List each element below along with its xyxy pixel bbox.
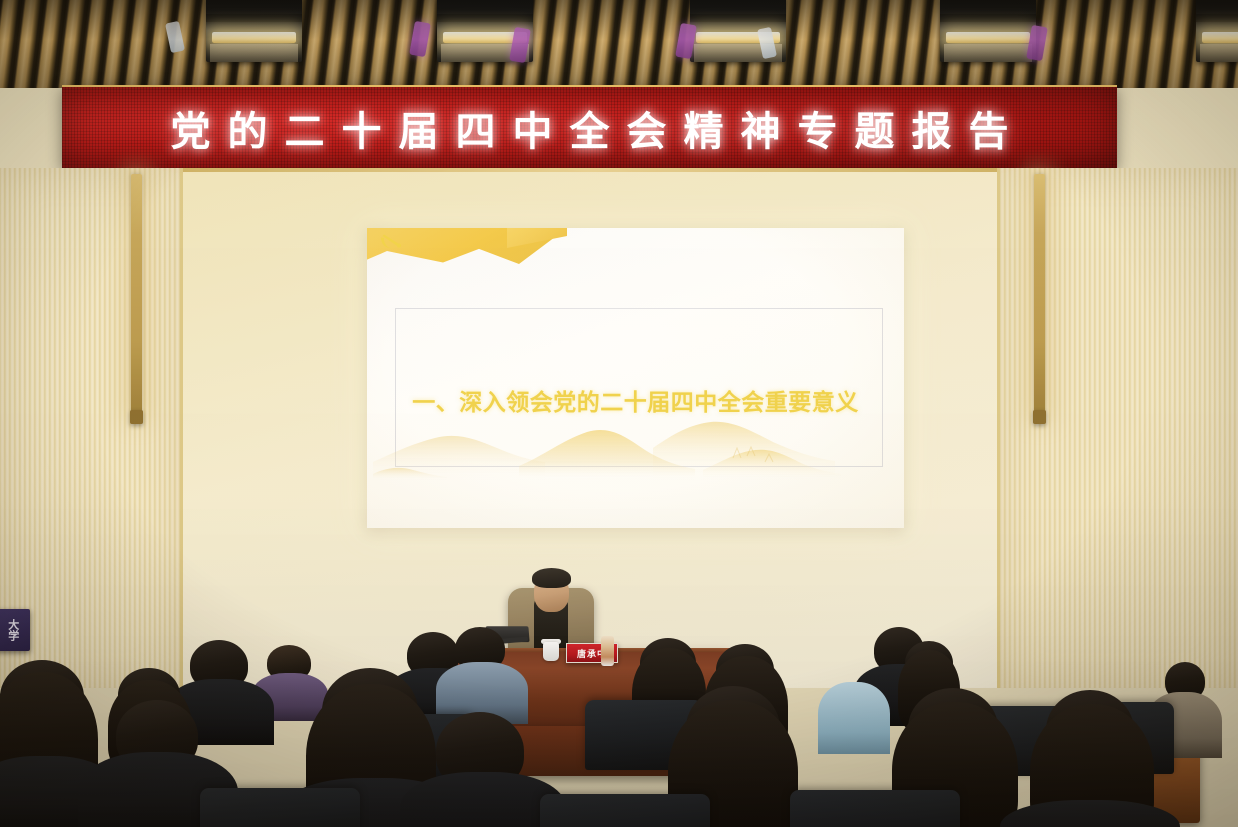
light-hood <box>944 44 1032 62</box>
thermos-bottle <box>601 636 614 666</box>
light-tube <box>1202 32 1238 43</box>
wall-sconce-right <box>1034 174 1045 414</box>
teacup <box>543 642 559 661</box>
violet-light-filter <box>509 27 531 63</box>
banner-title: 党的二十届四中全会精神专题报告 <box>154 99 1026 157</box>
wall-plaque-text: 大学 <box>7 619 19 641</box>
wall-sconce-left <box>131 174 142 414</box>
violet-light-filter <box>409 21 431 57</box>
light-mount-bar <box>206 14 302 22</box>
white-light-filter <box>757 27 777 59</box>
stage-area: 唐承中 <box>0 630 1238 827</box>
ceiling-spotlight <box>206 0 302 62</box>
wall-sconce-left-base <box>130 410 143 424</box>
conference-hall-photo: 党的二十届四中全会精神专题报告 一、深入领会党的二十届四中全会重要意义 <box>0 0 1238 827</box>
golden-mountain-landscape <box>373 418 873 480</box>
wall-sconce-right-base <box>1033 410 1046 424</box>
ceiling-spotlight <box>437 0 533 62</box>
front-desk-row <box>455 726 725 776</box>
light-tube <box>946 32 1030 43</box>
light-hood <box>441 44 529 62</box>
ceiling-spotlight <box>1196 0 1238 62</box>
light-mount-bar <box>940 14 1036 22</box>
projection-screen: 一、深入领会党的二十届四中全会重要意义 <box>367 228 904 528</box>
speaker-hair <box>532 568 571 588</box>
light-tube <box>443 32 527 43</box>
party-hammer-sickle-emblem <box>378 233 404 252</box>
light-mount-bar <box>437 14 533 22</box>
violet-light-filter <box>675 23 697 59</box>
event-banner: 党的二十届四中全会精神专题报告 <box>62 85 1117 168</box>
light-tube <box>212 32 296 43</box>
wall-plaque-sign: 大学 <box>0 609 30 651</box>
violet-light-filter <box>1026 25 1048 61</box>
white-light-filter <box>165 21 185 53</box>
side-writing-desk <box>1128 737 1200 823</box>
ceiling-spotlight <box>690 0 786 62</box>
light-mount-bar <box>690 14 786 22</box>
slide-title: 一、深入领会党的二十届四中全会重要意义 <box>367 383 904 417</box>
light-hood <box>694 44 782 62</box>
ceiling-spotlight <box>940 0 1036 62</box>
light-hood <box>210 44 298 62</box>
wooden-slat-ceiling <box>0 0 1238 88</box>
light-mount-bar <box>1196 14 1238 22</box>
light-tube <box>696 32 780 43</box>
light-hood <box>1200 44 1238 62</box>
